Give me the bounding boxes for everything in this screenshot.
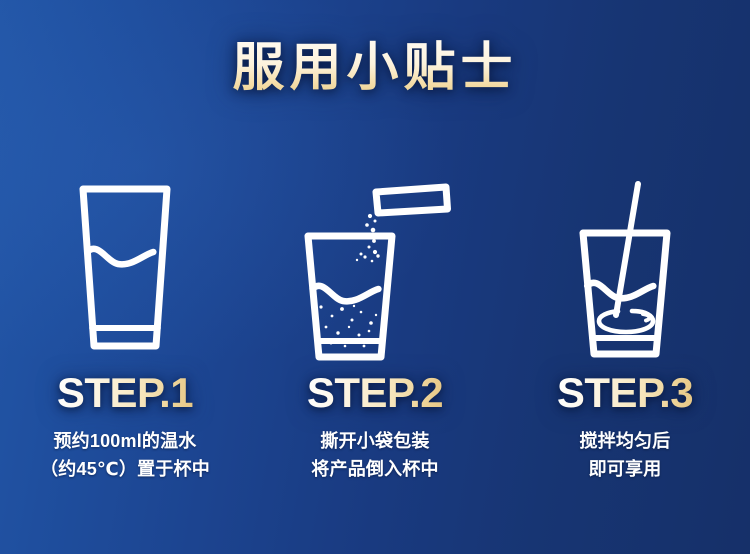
step-2-desc-line-1: 撕开小袋包装 bbox=[311, 428, 438, 456]
step-1-desc-line-1: 预约100ml的温水 bbox=[40, 428, 210, 456]
step-3-icon-box bbox=[560, 160, 690, 360]
step-3-desc-line-1: 搅拌均匀后 bbox=[580, 428, 671, 456]
step-2-label: STEP.2 bbox=[307, 372, 443, 414]
page-title-wrap: 服用小贴士 bbox=[0, 40, 750, 97]
step-1-icon-box bbox=[65, 160, 185, 360]
step-2-desc-line-2: 将产品倒入杯中 bbox=[311, 456, 438, 484]
step-3-label: STEP.3 bbox=[557, 372, 693, 414]
tips-banner: 服用小贴士 STEP.1 预约100ml的温水 （约45℃）置于杯中 bbox=[0, 0, 750, 554]
step-1-description: 预约100ml的温水 （约45℃）置于杯中 bbox=[40, 428, 210, 484]
stir-swirl-tail bbox=[643, 314, 650, 321]
page-title: 服用小贴士 bbox=[232, 40, 517, 97]
step-item-1: STEP.1 预约100ml的温水 （约45℃）置于杯中 bbox=[0, 160, 250, 500]
step-item-3: STEP.3 搅拌均匀后 即可享用 bbox=[500, 160, 750, 500]
glass-of-water-icon bbox=[65, 175, 185, 360]
sachet-shape bbox=[376, 187, 448, 213]
step-1-label: STEP.1 bbox=[57, 372, 193, 414]
step-2-description: 撕开小袋包装 将产品倒入杯中 bbox=[311, 428, 438, 484]
step-3-description: 搅拌均匀后 即可享用 bbox=[580, 428, 671, 484]
glass-with-straw-stirring-icon bbox=[560, 175, 690, 360]
sachet-pouring-into-glass-icon bbox=[295, 175, 455, 360]
step-1-desc-line-2: （约45℃）置于杯中 bbox=[40, 456, 210, 484]
step-2-icon-box bbox=[295, 160, 455, 360]
step-3-desc-line-2: 即可享用 bbox=[580, 456, 671, 484]
step-item-2: STEP.2 撕开小袋包装 将产品倒入杯中 bbox=[250, 160, 500, 500]
steps-row: STEP.1 预约100ml的温水 （约45℃）置于杯中 bbox=[0, 160, 750, 500]
